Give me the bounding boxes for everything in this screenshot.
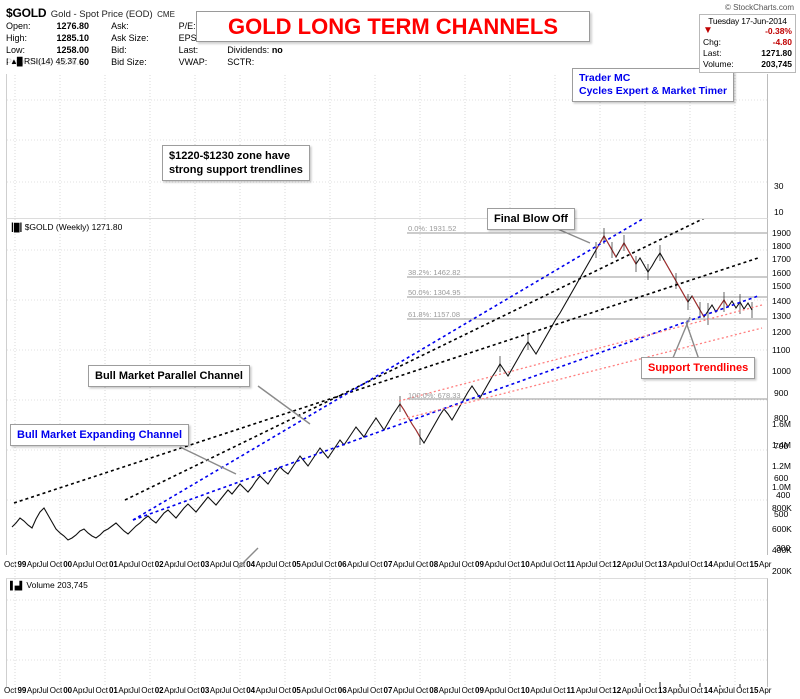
x-tick-12-53: 12 xyxy=(612,686,621,695)
x-tick-jul-39: Jul xyxy=(450,686,460,695)
fib-label-500: 50.0%: 1304.95 xyxy=(408,288,461,297)
x-tick-oct-0: Oct xyxy=(4,560,16,569)
x-tick-02-13: 02 xyxy=(155,686,164,695)
volume-tick-600k: 600K xyxy=(772,524,798,534)
quote-summary-box: Tuesday 17-Jun-2014 ▼ -0.38% Chg: -4.80 … xyxy=(699,14,796,73)
quote-volume-value: 203,745 xyxy=(761,59,792,70)
rsi-tick-10: 10 xyxy=(774,207,798,217)
x-axis-labels-volume: Oct99AprJulOct00AprJulOct01AprJulOct02Ap… xyxy=(0,686,800,698)
x-tick-jul-43: Jul xyxy=(496,560,506,569)
down-arrow-icon: ▼ xyxy=(703,26,713,37)
stockcharts-gold-chart-page: $GOLD Gold - Spot Price (EOD) CME © Stoc… xyxy=(0,0,800,699)
indicator-icon: ▲█ xyxy=(10,57,22,66)
x-tick-jul-59: Jul xyxy=(679,686,689,695)
x-tick-00-5: 00 xyxy=(63,560,72,569)
callout-blowoff-text: Final Blow Off xyxy=(494,212,568,226)
x-tick-oct-16: Oct xyxy=(187,560,199,569)
stockcharts-credit: © StockCharts.com xyxy=(725,3,794,12)
x-tick-14-61: 14 xyxy=(704,686,713,695)
callout-zone-line2: strong support trendlines xyxy=(169,163,303,177)
quote-volume-label: Volume: xyxy=(703,59,734,70)
x-tick-oct-36: Oct xyxy=(416,686,428,695)
price-tick-300: 300 xyxy=(776,543,798,553)
x-tick-oct-0: Oct xyxy=(4,686,16,695)
x-tick-oct-12: Oct xyxy=(141,560,153,569)
x-tick-jul-23: Jul xyxy=(267,686,277,695)
callout-trader-line1: Trader MC xyxy=(579,72,727,85)
x-tick-07-33: 07 xyxy=(384,560,393,569)
quote-last-label: Last: xyxy=(703,48,721,59)
x-tick-jul-15: Jul xyxy=(176,686,186,695)
x-tick-oct-20: Oct xyxy=(233,686,245,695)
x-tick-oct-56: Oct xyxy=(645,560,657,569)
x-tick-oct-32: Oct xyxy=(370,686,382,695)
x-tick-apr-66: Apr xyxy=(759,560,771,569)
volume-tick-1-4m: 1.4M xyxy=(772,440,798,450)
rsi-panel-label: ▲█ RSI(14) 45.37 xyxy=(8,56,79,66)
price-tick-1700: 1700 xyxy=(772,254,798,264)
fib-label-382: 38.2%: 1462.82 xyxy=(408,268,461,277)
x-tick-jul-63: Jul xyxy=(725,560,735,569)
volume-bars-icon: ▌▄▌ xyxy=(10,581,24,590)
volume-tick-1-2m: 1.2M xyxy=(772,461,798,471)
volume-panel-label: ▌▄▌ Volume 203,745 xyxy=(8,580,90,590)
x-tick-13-57: 13 xyxy=(658,560,667,569)
chart-title-banner: GOLD LONG TERM CHANNELS xyxy=(196,11,590,42)
x-tick-11-49: 11 xyxy=(567,560,575,569)
symbol-ticker: $GOLD xyxy=(6,6,46,20)
x-tick-jul-55: Jul xyxy=(633,686,643,695)
x-tick-08-37: 08 xyxy=(429,686,438,695)
chart-title-text: GOLD LONG TERM CHANNELS xyxy=(228,14,558,40)
x-tick-08-37: 08 xyxy=(429,560,438,569)
x-tick-oct-48: Oct xyxy=(553,560,565,569)
table-row: Low: 1258.00 Bid: Last: Dividends: no xyxy=(6,44,283,56)
x-tick-01-9: 01 xyxy=(109,686,118,695)
x-tick-11-49: 11 xyxy=(567,686,575,695)
x-tick-oct-16: Oct xyxy=(187,686,199,695)
candlestick-icon: ┃█┃ xyxy=(10,223,22,232)
x-tick-jul-11: Jul xyxy=(130,686,140,695)
quote-value-high: 1285.10 xyxy=(57,32,112,44)
quote-label-vwap: VWAP: xyxy=(179,56,228,68)
quote-last-row: Last: 1271.80 xyxy=(703,48,792,59)
x-tick-jul-3: Jul xyxy=(38,560,48,569)
price-panel-label: ┃█┃ $GOLD (Weekly) 1271.80 xyxy=(8,222,124,232)
price-tick-1400: 1400 xyxy=(772,296,798,306)
x-tick-jul-19: Jul xyxy=(221,560,231,569)
x-tick-oct-12: Oct xyxy=(141,686,153,695)
x-tick-jul-31: Jul xyxy=(359,560,369,569)
price-tick-1200: 1200 xyxy=(772,327,798,337)
callout-final-blow-off: Final Blow Off xyxy=(487,208,575,230)
x-tick-05-25: 05 xyxy=(292,560,301,569)
x-tick-jul-31: Jul xyxy=(359,686,369,695)
x-tick-09-41: 09 xyxy=(475,686,484,695)
volume-panel-label-text: Volume 203,745 xyxy=(26,580,87,590)
dividends-value: no xyxy=(272,45,283,55)
x-tick-04-21: 04 xyxy=(246,560,255,569)
price-tick-1100: 1100 xyxy=(772,345,798,355)
quote-label-bid: Bid: xyxy=(111,44,179,56)
x-tick-06-29: 06 xyxy=(338,560,347,569)
quote-value-low: 1258.00 xyxy=(57,44,112,56)
x-tick-oct-44: Oct xyxy=(507,686,519,695)
x-tick-oct-4: Oct xyxy=(50,560,62,569)
x-tick-03-17: 03 xyxy=(200,686,209,695)
x-tick-10-45: 10 xyxy=(521,686,530,695)
quote-label-ask: Ask: xyxy=(111,20,179,32)
price-tick-1500: 1500 xyxy=(772,281,798,291)
quote-label-ask-size: Ask Size: xyxy=(111,32,179,44)
symbol-exchange: CME xyxy=(157,10,175,19)
x-tick-05-25: 05 xyxy=(292,686,301,695)
x-tick-oct-40: Oct xyxy=(462,560,474,569)
quote-label-sctr: SCTR: xyxy=(227,56,283,68)
price-panel-label-text: $GOLD (Weekly) 1271.80 xyxy=(25,222,123,232)
x-tick-99-1: 99 xyxy=(17,560,26,569)
fib-label-0: 0.0%: 1931.52 xyxy=(408,224,456,233)
x-tick-00-5: 00 xyxy=(63,686,72,695)
x-tick-oct-48: Oct xyxy=(553,686,565,695)
x-tick-oct-24: Oct xyxy=(279,686,291,695)
x-tick-jul-47: Jul xyxy=(542,560,552,569)
x-tick-jul-63: Jul xyxy=(725,686,735,695)
quote-value-open: 1276.80 xyxy=(57,20,112,32)
quote-label-dividends: Dividends: no xyxy=(227,44,283,56)
x-tick-oct-64: Oct xyxy=(736,560,748,569)
x-tick-oct-8: Oct xyxy=(96,686,108,695)
x-tick-10-45: 10 xyxy=(521,560,530,569)
x-tick-oct-32: Oct xyxy=(370,560,382,569)
callout-support-zone: $1220-$1230 zone have strong support tre… xyxy=(162,145,310,181)
x-tick-oct-8: Oct xyxy=(96,560,108,569)
x-tick-99-1: 99 xyxy=(17,686,26,695)
x-tick-oct-36: Oct xyxy=(416,560,428,569)
x-tick-06-29: 06 xyxy=(338,686,347,695)
rsi-panel-label-text: RSI(14) 45.37 xyxy=(24,56,77,66)
callout-bull-market-parallel-channel: Bull Market Parallel Channel xyxy=(88,365,250,387)
x-tick-jul-3: Jul xyxy=(38,686,48,695)
x-tick-jul-59: Jul xyxy=(679,560,689,569)
symbol-description: Gold - Spot Price (EOD) xyxy=(51,9,153,20)
x-tick-13-57: 13 xyxy=(658,686,667,695)
rsi-tick-30: 30 xyxy=(774,181,798,191)
callout-zone-line1: $1220-$1230 zone have xyxy=(169,149,303,163)
x-tick-oct-28: Oct xyxy=(324,686,336,695)
x-tick-07-33: 07 xyxy=(384,686,393,695)
x-tick-14-61: 14 xyxy=(704,560,713,569)
x-tick-jul-27: Jul xyxy=(313,560,323,569)
x-tick-jul-7: Jul xyxy=(84,560,94,569)
x-tick-jul-15: Jul xyxy=(176,560,186,569)
x-tick-oct-52: Oct xyxy=(599,560,611,569)
quote-date: Tuesday 17-Jun-2014 xyxy=(703,16,792,26)
x-tick-oct-20: Oct xyxy=(233,560,245,569)
x-tick-jul-51: Jul xyxy=(587,560,597,569)
x-tick-oct-24: Oct xyxy=(279,560,291,569)
x-tick-03-17: 03 xyxy=(200,560,209,569)
x-tick-apr-66: Apr xyxy=(759,686,771,695)
volume-tick-800k: 800K xyxy=(772,503,798,513)
quote-chg-value: -4.80 xyxy=(773,37,792,48)
x-tick-oct-4: Oct xyxy=(50,686,62,695)
x-tick-oct-60: Oct xyxy=(690,686,702,695)
x-tick-04-21: 04 xyxy=(246,686,255,695)
x-tick-jul-55: Jul xyxy=(633,560,643,569)
x-tick-oct-44: Oct xyxy=(507,560,519,569)
price-tick-1000: 1000 xyxy=(772,366,798,376)
quote-change-row: ▼ -0.38% xyxy=(703,26,792,37)
x-tick-jul-47: Jul xyxy=(542,686,552,695)
x-tick-oct-40: Oct xyxy=(462,686,474,695)
x-tick-oct-56: Oct xyxy=(645,686,657,695)
quote-label-last: Last: xyxy=(179,44,228,56)
quote-label-low: Low: xyxy=(6,44,57,56)
callout-bull-market-expanding-channel: Bull Market Expanding Channel xyxy=(10,424,189,446)
x-tick-jul-11: Jul xyxy=(130,560,140,569)
x-tick-02-13: 02 xyxy=(155,560,164,569)
fib-label-1000: 100.0%: 678.33 xyxy=(408,391,461,400)
quote-chg-row: Chg: -4.80 xyxy=(703,37,792,48)
x-tick-jul-23: Jul xyxy=(267,560,277,569)
price-tick-1900: 1900 xyxy=(772,228,798,238)
quote-change-percent: -0.38% xyxy=(765,26,792,37)
volume-tick-1-6m: 1.6M xyxy=(772,419,798,429)
callout-trader-line2: Cycles Expert & Market Timer xyxy=(579,85,727,98)
x-tick-15-65: 15 xyxy=(750,686,759,695)
x-tick-jul-35: Jul xyxy=(404,686,414,695)
quote-label-open: Open: xyxy=(6,20,57,32)
price-tick-1800: 1800 xyxy=(772,241,798,251)
x-tick-oct-28: Oct xyxy=(324,560,336,569)
callout-expanding-text: Bull Market Expanding Channel xyxy=(17,428,182,442)
x-tick-jul-43: Jul xyxy=(496,686,506,695)
price-tick-900: 900 xyxy=(774,388,798,398)
x-tick-jul-7: Jul xyxy=(84,686,94,695)
x-tick-oct-64: Oct xyxy=(736,686,748,695)
x-tick-jul-51: Jul xyxy=(587,686,597,695)
x-axis-labels-price: Oct99AprJulOct00AprJulOct01AprJulOct02Ap… xyxy=(0,560,800,572)
quote-label-bid-size: Bid Size: xyxy=(111,56,179,68)
price-tick-1600: 1600 xyxy=(772,268,798,278)
x-tick-15-65: 15 xyxy=(750,560,759,569)
callout-trader-mc: Trader MC Cycles Expert & Market Timer xyxy=(572,68,734,102)
dividends-label: Dividends: xyxy=(227,45,269,55)
x-tick-jul-39: Jul xyxy=(450,560,460,569)
fib-label-618: 61.8%: 1157.08 xyxy=(408,310,460,319)
callout-support-trendlines: Support Trendlines xyxy=(641,357,755,379)
x-tick-jul-35: Jul xyxy=(404,560,414,569)
volume-chart-panel xyxy=(6,578,768,687)
x-tick-09-41: 09 xyxy=(475,560,484,569)
price-tick-1300: 1300 xyxy=(772,311,798,321)
quote-volume-row: Volume: 203,745 xyxy=(703,59,792,70)
price-tick-400: 400 xyxy=(776,490,798,500)
x-tick-01-9: 01 xyxy=(109,560,118,569)
quote-label-high: High: xyxy=(6,32,57,44)
x-tick-12-53: 12 xyxy=(612,560,621,569)
x-tick-oct-52: Oct xyxy=(599,686,611,695)
callout-parallel-text: Bull Market Parallel Channel xyxy=(95,369,243,383)
x-tick-jul-19: Jul xyxy=(221,686,231,695)
quote-chg-label: Chg: xyxy=(703,37,721,48)
callout-support-text: Support Trendlines xyxy=(648,361,748,375)
quote-last-value: 1271.80 xyxy=(761,48,792,59)
x-tick-oct-60: Oct xyxy=(690,560,702,569)
x-tick-jul-27: Jul xyxy=(313,686,323,695)
